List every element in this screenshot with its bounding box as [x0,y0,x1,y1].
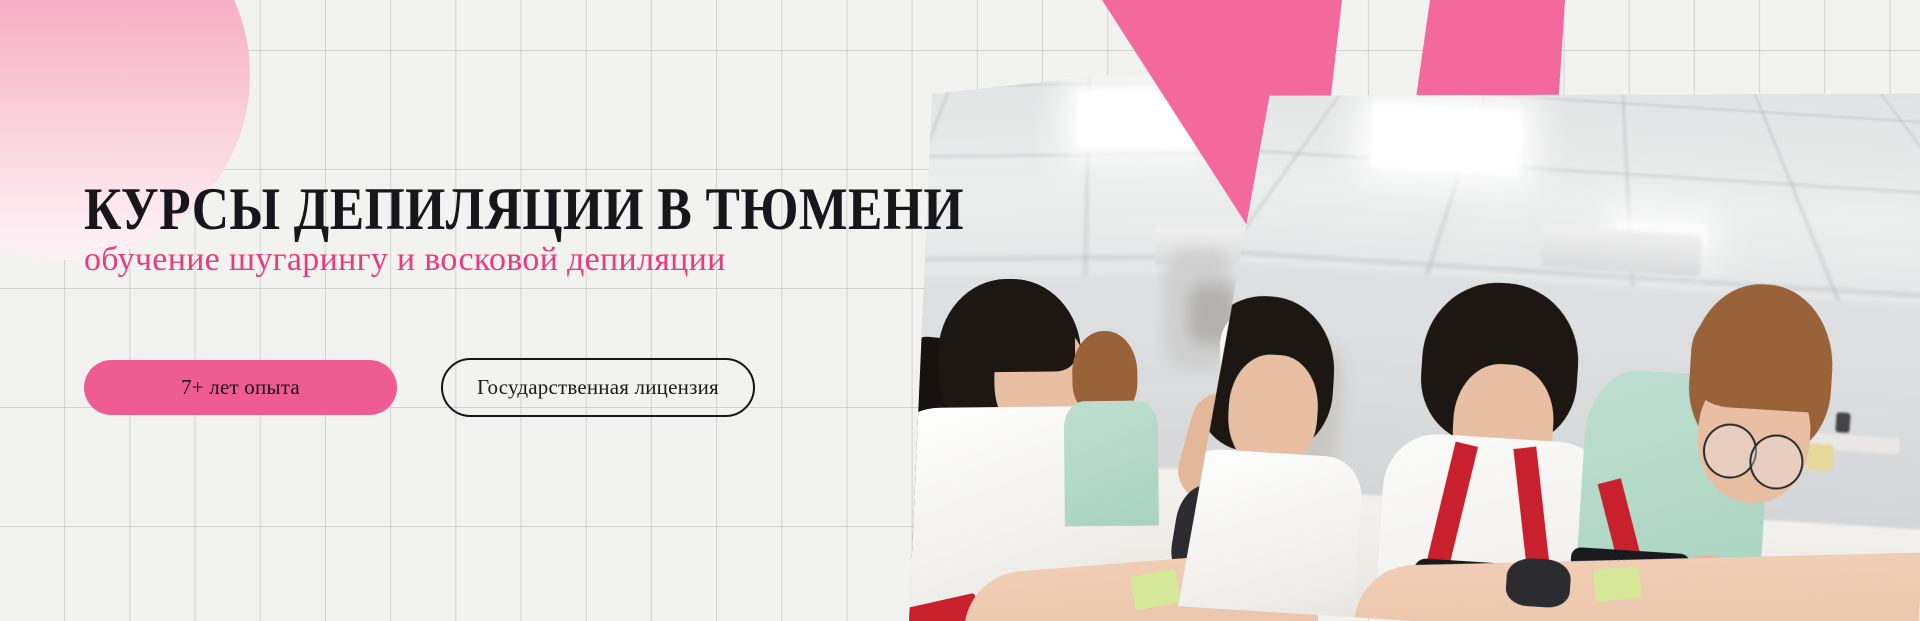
page-title: КУРСЫ ДЕПИЛЯЦИИ В ТЮМЕНИ [84,179,964,239]
photo-training-right: MOLLONPRO MOLLONPRO [1178,47,1920,621]
badge-experience[interactable]: 7+ лет опыта [84,360,397,415]
badge-group: 7+ лет опыта Государственная лицензия [84,358,755,417]
hero-banner: MOLLONPRO MOLLONPRO КУРСЫ [0,0,1920,621]
page-subtitle: обучение шугарингу и восковой депиляции [84,241,726,278]
badge-license[interactable]: Государственная лицензия [441,358,755,417]
hero-text-block: КУРСЫ ДЕПИЛЯЦИИ В ТЮМЕНИ обучение шугари… [0,0,900,621]
